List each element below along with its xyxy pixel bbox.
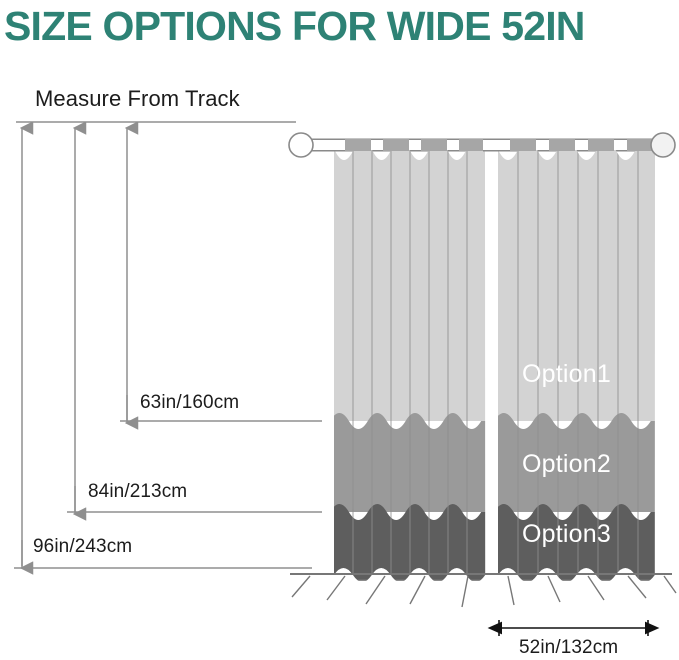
dimension-label-option3: 96in/243cm bbox=[33, 536, 132, 558]
option2-label: Option2 bbox=[522, 450, 611, 479]
infographic-canvas: SIZE OPTIONS FOR WIDE 52IN Measure From … bbox=[0, 0, 679, 660]
option1-label: Option1 bbox=[522, 360, 611, 389]
floor-hatching bbox=[292, 576, 676, 607]
dimension-label-width: 52in/132cm bbox=[519, 637, 618, 659]
diagram-graphics bbox=[0, 0, 679, 660]
dimension-label-option2: 84in/213cm bbox=[88, 481, 187, 503]
curtain-panel-left bbox=[330, 145, 490, 580]
rod-finial-right-icon bbox=[651, 133, 675, 157]
option3-label: Option3 bbox=[522, 520, 611, 549]
rod-finial-left-icon bbox=[289, 133, 313, 157]
dimension-label-option1: 63in/160cm bbox=[140, 392, 239, 414]
